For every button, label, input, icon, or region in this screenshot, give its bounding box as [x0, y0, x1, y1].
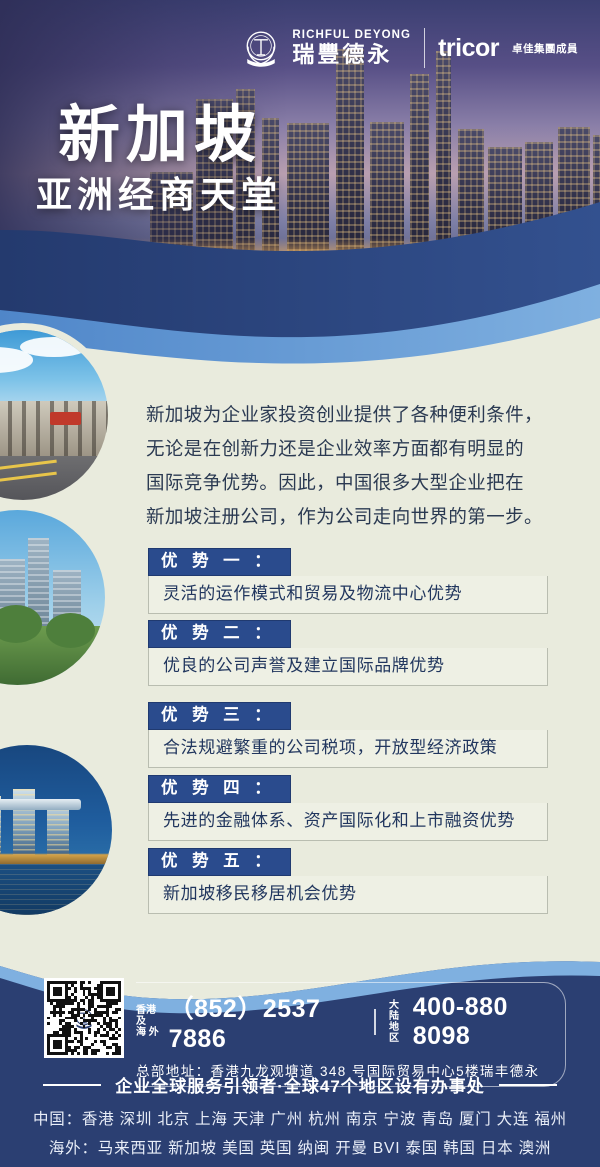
advantage-text: 先进的金融体系、资产国际化和上市融资优势 [148, 803, 548, 842]
brand-logo: RICHFUL DEYONG 瑞豐德永 tricor 卓佳集團成員 [239, 26, 578, 70]
hk-phone-label: 香港及 海 外 [136, 1005, 163, 1038]
partner-chinese-text: 卓佳集團成員 [512, 41, 578, 56]
qr-code-icon[interactable] [44, 978, 124, 1058]
slogan-rule-left [43, 1084, 101, 1086]
phone-row: 香港及 海 外 （852）2537 7886 大陆 地区 400-880 809… [136, 989, 555, 1054]
phone-divider [374, 1009, 376, 1035]
slogan-rule-right [499, 1084, 557, 1086]
advantage-text: 优良的公司声誉及建立国际品牌优势 [148, 648, 548, 687]
hk-phone-number[interactable]: （852）2537 7886 [169, 989, 362, 1054]
intro-line-4: 新加坡注册公司，作为公司走向世界的第一步。 [146, 500, 574, 534]
partner-logo-text: tricor [438, 34, 499, 63]
advantage-item-1: 优 势 一 ： 灵活的运作模式和贸易及物流中心优势 [148, 548, 548, 614]
china-offices-list: 中国：香港 深圳 北京 上海 天津 广州 杭州 南京 宁波 青岛 厦门 大连 福… [0, 1107, 600, 1129]
intro-line-1: 新加坡为企业家投资创业提供了各种便利条件， [146, 398, 574, 432]
cn-phone-number[interactable]: 400-880 8098 [413, 993, 555, 1051]
logo-english-name: RICHFUL DEYONG [292, 30, 411, 42]
logo-divider [424, 28, 425, 68]
advantage-label: 优 势 五 ： [148, 848, 291, 876]
logo-chinese-name: 瑞豐德永 [292, 44, 411, 66]
advantage-label: 优 势 三 ： [148, 702, 291, 730]
marina-bay-sands-photo [0, 745, 112, 915]
slogan-text: 企业全球服务引领者·全球47个地区设有办事处 [115, 1072, 485, 1097]
company-crest-icon [239, 26, 283, 70]
singapore-shophouses-photo [0, 330, 108, 500]
page-subtitle: 亚洲经商天堂 [36, 166, 282, 218]
poster-root: RICHFUL DEYONG 瑞豐德永 tricor 卓佳集團成員 新加坡 亚洲… [0, 0, 600, 1167]
advantage-item-2: 优 势 二 ： 优良的公司声誉及建立国际品牌优势 [148, 620, 548, 686]
advantage-text: 灵活的运作模式和贸易及物流中心优势 [148, 576, 548, 615]
intro-paragraph: 新加坡为企业家投资创业提供了各种便利条件， 无论是在创新力还是企业效率方面都有明… [146, 398, 574, 534]
page-title: 新加坡 [58, 84, 262, 174]
advantage-label: 优 势 二 ： [148, 620, 291, 648]
overseas-offices-list: 海外：马来西亚 新加坡 美国 英国 纳闽 开曼 BVI 泰国 韩国 日本 澳洲 [0, 1136, 600, 1158]
footer: 香港及 海 外 （852）2537 7886 大陆 地区 400-880 809… [0, 952, 600, 1167]
slogan-row: 企业全球服务引领者·全球47个地区设有办事处 [0, 1072, 600, 1097]
cn-phone-label: 大陆 地区 [389, 1000, 407, 1044]
advantage-text: 合法规避繁重的公司税项，开放型经济政策 [148, 730, 548, 769]
intro-line-3: 国际竞争优势。因此，中国很多大型企业把在 [146, 466, 574, 500]
advantage-item-3: 优 势 三 ： 合法规避繁重的公司税项，开放型经济政策 [148, 702, 548, 768]
advantage-text: 新加坡移民移居机会优势 [148, 876, 548, 915]
singapore-skyline-photo [0, 510, 105, 685]
advantage-item-5: 优 势 五 ： 新加坡移民移居机会优势 [148, 848, 548, 914]
advantage-label: 优 势 四 ： [148, 775, 291, 803]
advantage-item-4: 优 势 四 ： 先进的金融体系、资产国际化和上市融资优势 [148, 775, 548, 841]
advantage-label: 优 势 一 ： [148, 548, 291, 576]
intro-line-2: 无论是在创新力还是企业效率方面都有明显的 [146, 432, 574, 466]
